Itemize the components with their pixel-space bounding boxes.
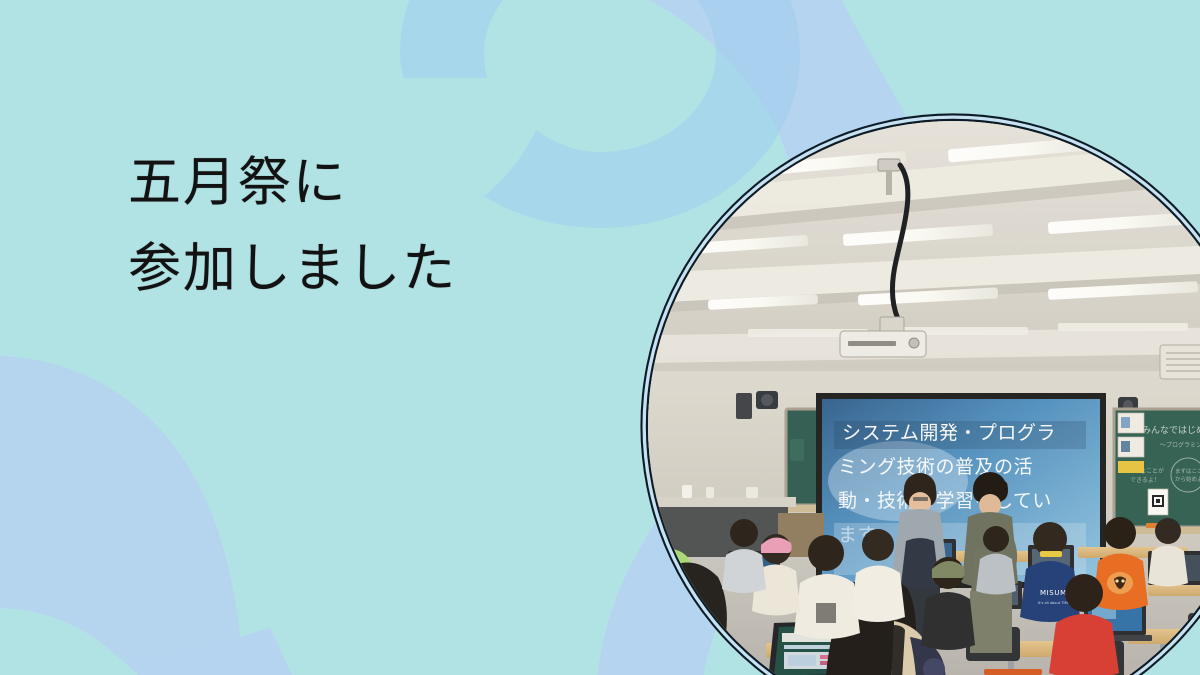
- classroom-photo-illustration: システム開発・プログラ ミング技術の普及の活 動・技術の学習をしてい ます みん…: [648, 121, 1200, 675]
- page-title-line-2: 参加しました: [128, 226, 457, 312]
- page-title-line-1: 五月祭に: [128, 140, 457, 226]
- slide-canvas: 五月祭に 参加しました: [0, 0, 1200, 675]
- page-title: 五月祭に 参加しました: [128, 140, 457, 312]
- classroom-photo: システム開発・プログラ ミング技術の普及の活 動・技術の学習をしてい ます みん…: [648, 121, 1200, 675]
